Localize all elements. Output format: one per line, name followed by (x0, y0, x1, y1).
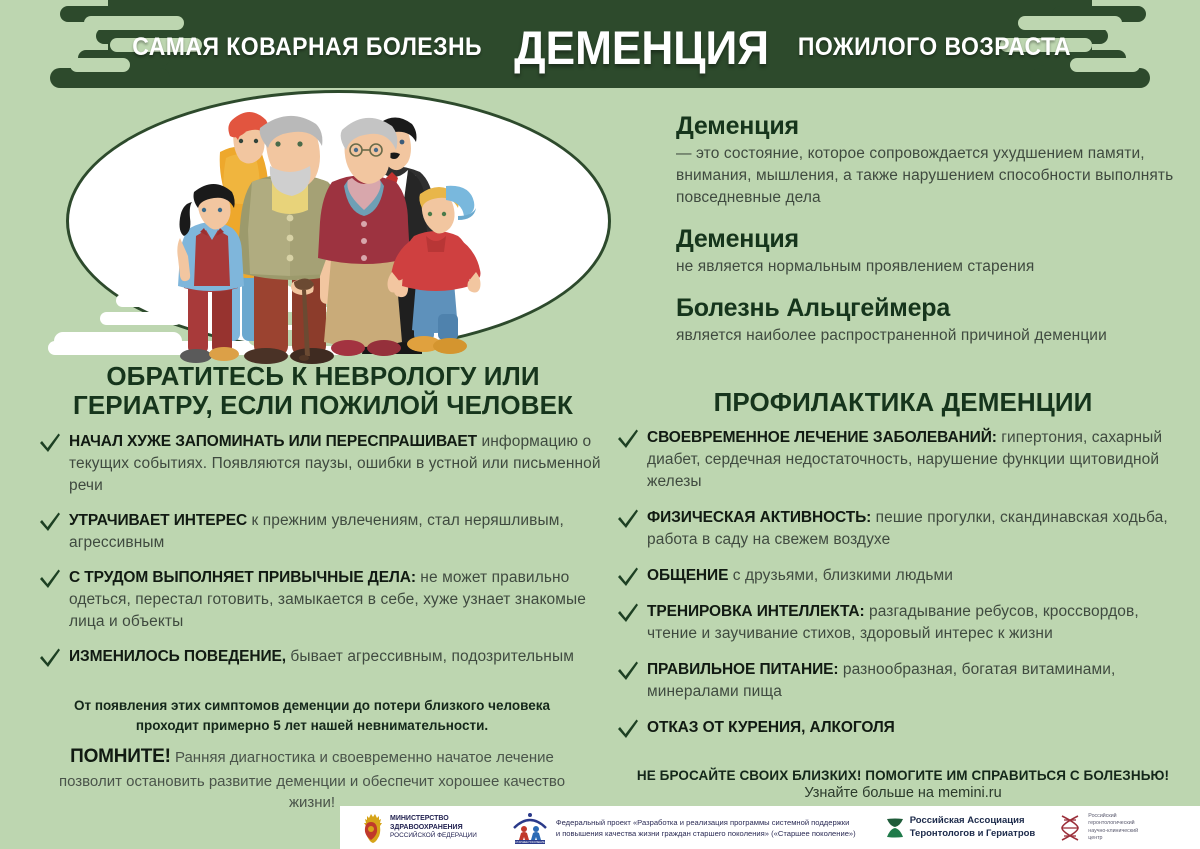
list-item: ИЗМЕНИЛОСЬ ПОВЕДЕНИЕ, бывает агрессивным… (36, 646, 610, 668)
definition-title: Болезнь Альцгеймера (676, 294, 1184, 323)
list-item: ТРЕНИРОВКА ИНТЕЛЛЕКТА: разгадывание ребу… (614, 601, 1192, 645)
list-item-text: ОТКАЗ ОТ КУРЕНИЯ, АЛКОГОЛЯ (647, 717, 1192, 739)
checkmark-icon (38, 568, 62, 592)
list-item-text: С ТРУДОМ ВЫПОЛНЯЕТ ПРИВЫЧНЫЕ ДЕЛА: не мо… (69, 567, 610, 633)
russian-coat-of-arms-icon (358, 813, 384, 843)
cta-line-1: НЕ БРОСАЙТЕ СВОИХ БЛИЗКИХ! ПОМОГИТЕ ИМ С… (614, 768, 1192, 783)
checkmark-icon (616, 428, 640, 452)
list-item: УТРАЧИВАЕТ ИНТЕРЕС к прежним увлечениям,… (36, 510, 610, 554)
definition-title: Деменция (676, 112, 1184, 141)
list-item: ПРАВИЛЬНОЕ ПИТАНИЕ: разнообразная, богат… (614, 659, 1192, 703)
deco-stripe-l4 (116, 294, 174, 307)
definition-2: Болезнь Альцгеймера является наиболее ра… (676, 294, 1184, 347)
footer-ministry: МИНИСТЕРСТВО ЗДРАВООХРАНЕНИЯ РОССИЙСКОЙ … (358, 806, 477, 849)
list-item-text: ОБЩЕНИЕ с друзьями, близкими людьми (647, 565, 1192, 587)
ministry-line-1: МИНИСТЕРСТВО (390, 814, 477, 823)
svg-text:СТАРШЕЕ ПОКОЛЕНИЕ: СТАРШЕЕ ПОКОЛЕНИЕ (515, 840, 545, 844)
older-generation-logo-icon: СТАРШЕЕ ПОКОЛЕНИЕ (511, 812, 549, 844)
list-item-rest: с друзьями, близкими людьми (728, 567, 953, 584)
project-text: Федеральный проект «Разработка и реализа… (556, 817, 856, 839)
list-item: ОТКАЗ ОТ КУРЕНИЯ, АЛКОГОЛЯ (614, 717, 1192, 739)
checkmark-icon (38, 432, 62, 456)
list-item-text: СВОЕВРЕМЕННОЕ ЛЕЧЕНИЕ ЗАБОЛЕВАНИЙ: гипер… (647, 427, 1192, 493)
definition-body: — это состояние, которое сопровождается … (676, 143, 1184, 209)
list-item-rest: бывает агрессивным, подозрительным (286, 648, 574, 665)
definition-title: Деменция (676, 225, 1184, 254)
definition-1: Деменция не является нормальным проявлен… (676, 225, 1184, 278)
deco-stripe-r6 (248, 330, 358, 346)
association-text: Российская Ассоциация Теронтологов и Гер… (910, 815, 1036, 840)
list-item: СВОЕВРЕМЕННОЕ ЛЕЧЕНИЕ ЗАБОЛЕВАНИЙ: гипер… (614, 427, 1192, 493)
checkmark-icon (616, 660, 640, 684)
deco-stripe-r2 (296, 254, 352, 267)
association-line-1: Российская Ассоциация (910, 815, 1036, 827)
checkmark-icon (616, 508, 640, 532)
list-item-bold: ОБЩЕНИЕ (647, 567, 728, 584)
remember-note: ПОМНИТЕ! Ранняя диагностика и своевремен… (52, 744, 572, 814)
list-item-bold: ТРЕНИРОВКА ИНТЕЛЛЕКТА: (647, 603, 865, 620)
deco-stripe-r3 (286, 274, 352, 287)
list-item-text: ТРЕНИРОВКА ИНТЕЛЛЕКТА: разгадывание ребу… (647, 601, 1192, 645)
checkmark-icon (616, 566, 640, 590)
list-item-bold: УТРАЧИВАЕТ ИНТЕРЕС (69, 512, 247, 529)
ministry-text: МИНИСТЕРСТВО ЗДРАВООХРАНЕНИЯ РОССИЙСКОЙ … (390, 814, 477, 841)
remember-label: ПОМНИТЕ! (70, 746, 171, 767)
poster-title: САМАЯ КОВАРНАЯ БОЛЕЗНЬ ДЕМЕНЦИЯ ПОЖИЛОГО… (0, 0, 1200, 88)
title-main: ДЕМЕНЦИЯ (514, 20, 769, 75)
list-item-bold: ПРАВИЛЬНОЕ ПИТАНИЕ: (647, 661, 838, 678)
list-item: НАЧАЛ ХУЖЕ ЗАПОМИНАТЬ ИЛИ ПЕРЕСПРАШИВАЕТ… (36, 431, 610, 497)
deco-stripe-r5 (274, 312, 354, 325)
checkmark-icon (616, 718, 640, 742)
prevention-heading: ПРОФИЛАКТИКА ДЕМЕНЦИИ (614, 388, 1192, 417)
list-item: ОБЩЕНИЕ с друзьями, близкими людьми (614, 565, 1192, 587)
deco-stripe-l1 (98, 234, 138, 247)
family-illustration (48, 86, 648, 368)
association-line-2: Теронтологов и Гериатров (910, 828, 1036, 840)
title-suffix: ПОЖИЛОГО ВОЗРАСТА (798, 33, 1071, 62)
symptoms-list: НАЧАЛ ХУЖЕ ЗАПОМИНАТЬ ИЛИ ПЕРЕСПРАШИВАЕТ… (36, 431, 610, 668)
list-item-text: НАЧАЛ ХУЖЕ ЗАПОМИНАТЬ ИЛИ ПЕРЕСПРАШИВАЕТ… (69, 431, 610, 497)
definition-0: Деменция — это состояние, которое сопров… (676, 112, 1184, 209)
header-banner: САМАЯ КОВАРНАЯ БОЛЕЗНЬ ДЕМЕНЦИЯ ПОЖИЛОГО… (0, 0, 1200, 88)
ministry-line-3: РОССИЙСКОЙ ФЕДЕРАЦИИ (390, 832, 477, 840)
deco-stripe-l2 (106, 254, 154, 267)
title-prefix: САМАЯ КОВАРНАЯ БОЛЕЗНЬ (132, 33, 482, 62)
list-item-text: УТРАЧИВАЕТ ИНТЕРЕС к прежним увлечениям,… (69, 510, 610, 554)
definitions-block: Деменция — это состояние, которое сопров… (676, 112, 1184, 363)
list-item-bold: ОТКАЗ ОТ КУРЕНИЯ, АЛКОГОЛЯ (647, 719, 895, 736)
list-item-bold: С ТРУДОМ ВЫПОЛНЯЕТ ПРИВЫЧНЫЕ ДЕЛА: (69, 569, 416, 586)
center-line-4: центр (1088, 835, 1138, 842)
call-to-action: НЕ БРОСАЙТЕ СВОИХ БЛИЗКИХ! ПОМОГИТЕ ИМ С… (614, 768, 1192, 801)
footer-center: Российский геронтологический научно-клин… (1057, 806, 1138, 849)
dna-helix-icon (1057, 814, 1083, 842)
center-line-2: геронтологический (1088, 820, 1138, 827)
deco-stripe-r4 (292, 294, 352, 307)
symptoms-warning-note: От появления этих симптомов деменции до … (52, 696, 572, 735)
footer-logos: МИНИСТЕРСТВО ЗДРАВООХРАНЕНИЯ РОССИЙСКОЙ … (340, 806, 1200, 849)
center-text: Российский геронтологический научно-клин… (1088, 813, 1138, 842)
list-item-text: ИЗМЕНИЛОСЬ ПОВЕДЕНИЕ, бывает агрессивным… (69, 646, 610, 668)
prevention-section: ПРОФИЛАКТИКА ДЕМЕНЦИИ СВОЕВРЕМЕННОЕ ЛЕЧЕ… (614, 388, 1192, 753)
list-item: С ТРУДОМ ВЫПОЛНЯЕТ ПРИВЫЧНЫЕ ДЕЛА: не мо… (36, 567, 610, 633)
project-line-2: и повышения качества жизни граждан старш… (556, 828, 856, 839)
poster-root: САМАЯ КОВАРНАЯ БОЛЕЗНЬ ДЕМЕНЦИЯ ПОЖИЛОГО… (0, 0, 1200, 849)
cta-line-2: Узнайте больше на memini.ru (614, 785, 1192, 801)
project-line-1: Федеральный проект «Разработка и реализа… (556, 817, 856, 828)
list-item-bold: НАЧАЛ ХУЖЕ ЗАПОМИНАТЬ ИЛИ ПЕРЕСПРАШИВАЕТ (69, 433, 477, 450)
list-item-text: ФИЗИЧЕСКАЯ АКТИВНОСТЬ: пешие прогулки, с… (647, 507, 1192, 551)
center-line-3: научно-клинический (1088, 828, 1138, 835)
footer-association: Российская Ассоциация Теронтологов и Гер… (886, 806, 1036, 849)
checkmark-icon (38, 511, 62, 535)
prevention-list: СВОЕВРЕМЕННОЕ ЛЕЧЕНИЕ ЗАБОЛЕВАНИЙ: гипер… (614, 427, 1192, 739)
deco-stripe-l3 (110, 274, 170, 287)
deco-stripe-r1 (306, 234, 352, 247)
association-leaf-icon (886, 817, 904, 839)
list-item: ФИЗИЧЕСКАЯ АКТИВНОСТЬ: пешие прогулки, с… (614, 507, 1192, 551)
checkmark-icon (38, 647, 62, 671)
list-item-bold: ИЗМЕНИЛОСЬ ПОВЕДЕНИЕ, (69, 648, 286, 665)
footer-project: СТАРШЕЕ ПОКОЛЕНИЕ Федеральный проект «Ра… (511, 806, 856, 849)
deco-stripe-l5 (100, 312, 182, 325)
symptoms-heading: ОБРАТИТЕСЬ К НЕВРОЛОГУ ИЛИ ГЕРИАТРУ, ЕСЛ… (36, 362, 610, 421)
list-item-bold: СВОЕВРЕМЕННОЕ ЛЕЧЕНИЕ ЗАБОЛЕВАНИЙ: (647, 429, 997, 446)
definition-body: является наиболее распространенной причи… (676, 325, 1184, 347)
symptoms-section: ОБРАТИТЕСЬ К НЕВРОЛОГУ ИЛИ ГЕРИАТРУ, ЕСЛ… (36, 362, 610, 681)
checkmark-icon (616, 602, 640, 626)
list-item-text: ПРАВИЛЬНОЕ ПИТАНИЕ: разнообразная, богат… (647, 659, 1192, 703)
list-item-bold: ФИЗИЧЕСКАЯ АКТИВНОСТЬ: (647, 509, 871, 526)
definition-body: не является нормальным проявлением старе… (676, 256, 1184, 278)
